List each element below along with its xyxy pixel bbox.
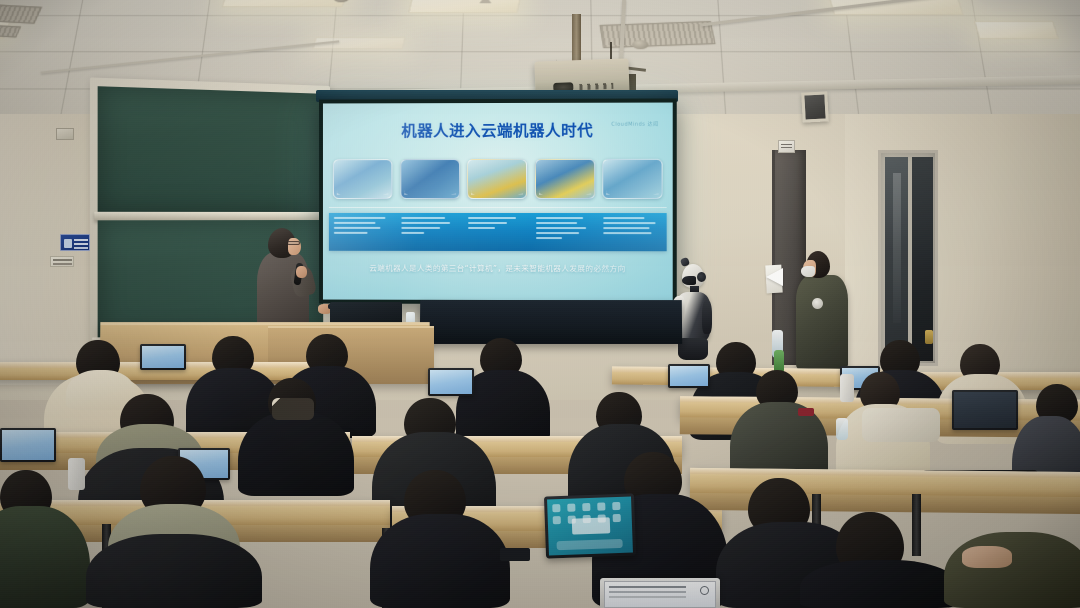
safety-sign xyxy=(60,234,90,251)
laptop[interactable] xyxy=(140,344,186,370)
band-column xyxy=(396,213,463,251)
wall-speaker xyxy=(801,91,829,122)
laptop[interactable] xyxy=(0,428,56,462)
blackboard-chalk-rail xyxy=(94,212,326,221)
laptop-screen xyxy=(604,581,716,608)
smoke-detector-icon xyxy=(632,40,649,49)
slide-card xyxy=(535,159,595,199)
phone[interactable] xyxy=(500,548,530,561)
slide-logo: CloudMinds 达闼 xyxy=(611,121,658,128)
slide-card xyxy=(602,159,662,199)
student-hand xyxy=(962,546,1012,568)
robot-ear-module xyxy=(697,272,706,282)
presenter-hand xyxy=(296,266,307,278)
slide-divider xyxy=(329,207,667,208)
window-reflection xyxy=(893,173,901,323)
desk-row xyxy=(690,468,1080,498)
ceiling-light-panel xyxy=(974,21,1059,39)
wall-outlet-plate xyxy=(56,128,74,140)
glasses-icon xyxy=(287,241,300,245)
slide-text-band xyxy=(329,213,667,251)
phone[interactable] xyxy=(798,408,814,416)
window-handle[interactable] xyxy=(925,330,933,344)
sign-text-lines xyxy=(74,239,88,241)
tablet-widget xyxy=(572,517,611,534)
backpack xyxy=(862,408,940,442)
sign-pictogram-icon xyxy=(64,239,72,248)
laptop[interactable] xyxy=(600,578,720,608)
laptop[interactable] xyxy=(668,364,710,388)
slide-card xyxy=(467,159,527,199)
face-mask-icon xyxy=(801,266,815,277)
tablet-screen xyxy=(547,497,633,556)
slide-footer-text: 云端机器人是人类的第三台“计算机”，是未来智能机器人发展的必然方向 xyxy=(323,263,673,275)
band-column xyxy=(463,213,531,251)
projection-screen: 机器人进入云端机器人时代 CloudMinds 达闼 xyxy=(319,98,677,304)
ceiling-light-panel xyxy=(221,0,350,7)
robot-arm xyxy=(702,300,712,334)
patterned-scarf xyxy=(272,398,314,420)
attendee-torso xyxy=(796,275,848,370)
lecture-hall-scene: 机器人进入云端机器人时代 CloudMinds 达闼 xyxy=(0,0,1080,608)
tablet-dock xyxy=(557,539,623,550)
desk-leg xyxy=(912,494,921,556)
robot-face-visor xyxy=(682,276,696,285)
window-pane xyxy=(885,157,908,361)
band-column xyxy=(531,213,599,251)
tablet[interactable] xyxy=(544,493,636,558)
thermos-bottle xyxy=(68,458,85,490)
wall-notice xyxy=(50,256,74,267)
laptop[interactable] xyxy=(952,390,1018,430)
arrow-icon xyxy=(766,268,783,286)
door-sign xyxy=(778,140,795,153)
jacket-logo xyxy=(812,298,823,309)
thermos-bottle xyxy=(840,374,854,402)
water-bottle xyxy=(836,418,848,440)
band-column xyxy=(329,213,396,251)
laptop[interactable] xyxy=(428,368,474,396)
presentation-slide: 机器人进入云端机器人时代 CloudMinds 达闼 xyxy=(323,103,673,301)
band-column xyxy=(599,213,667,251)
slide-image-cards xyxy=(333,159,663,199)
slide-card xyxy=(400,159,460,199)
blackboard-upper-panel xyxy=(98,86,324,212)
hvac-vent xyxy=(600,21,716,48)
robot-base xyxy=(678,338,708,360)
front-equipment-bench xyxy=(420,300,682,344)
slide-card xyxy=(333,159,393,199)
ceiling-light-panel xyxy=(408,0,522,13)
